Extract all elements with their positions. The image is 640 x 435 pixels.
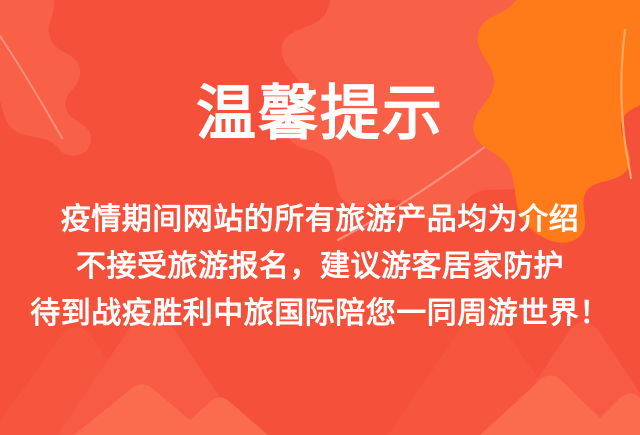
notice-line-1: 疫情期间网站的所有旅游产品均为介绍 — [0, 196, 640, 243]
notice-banner: 温馨提示 疫情期间网站的所有旅游产品均为介绍 不接受旅游报名，建议游客居家防护 … — [0, 0, 640, 435]
banner-content: 温馨提示 疫情期间网站的所有旅游产品均为介绍 不接受旅游报名，建议游客居家防护 … — [0, 0, 640, 435]
notice-line-2: 不接受旅游报名，建议游客居家防护 — [0, 243, 640, 290]
notice-line-3: 待到战疫胜利中旅国际陪您一同周游世界！ — [0, 290, 640, 337]
notice-body: 疫情期间网站的所有旅游产品均为介绍 不接受旅游报名，建议游客居家防护 待到战疫胜… — [0, 196, 640, 337]
page-title: 温馨提示 — [0, 79, 640, 149]
